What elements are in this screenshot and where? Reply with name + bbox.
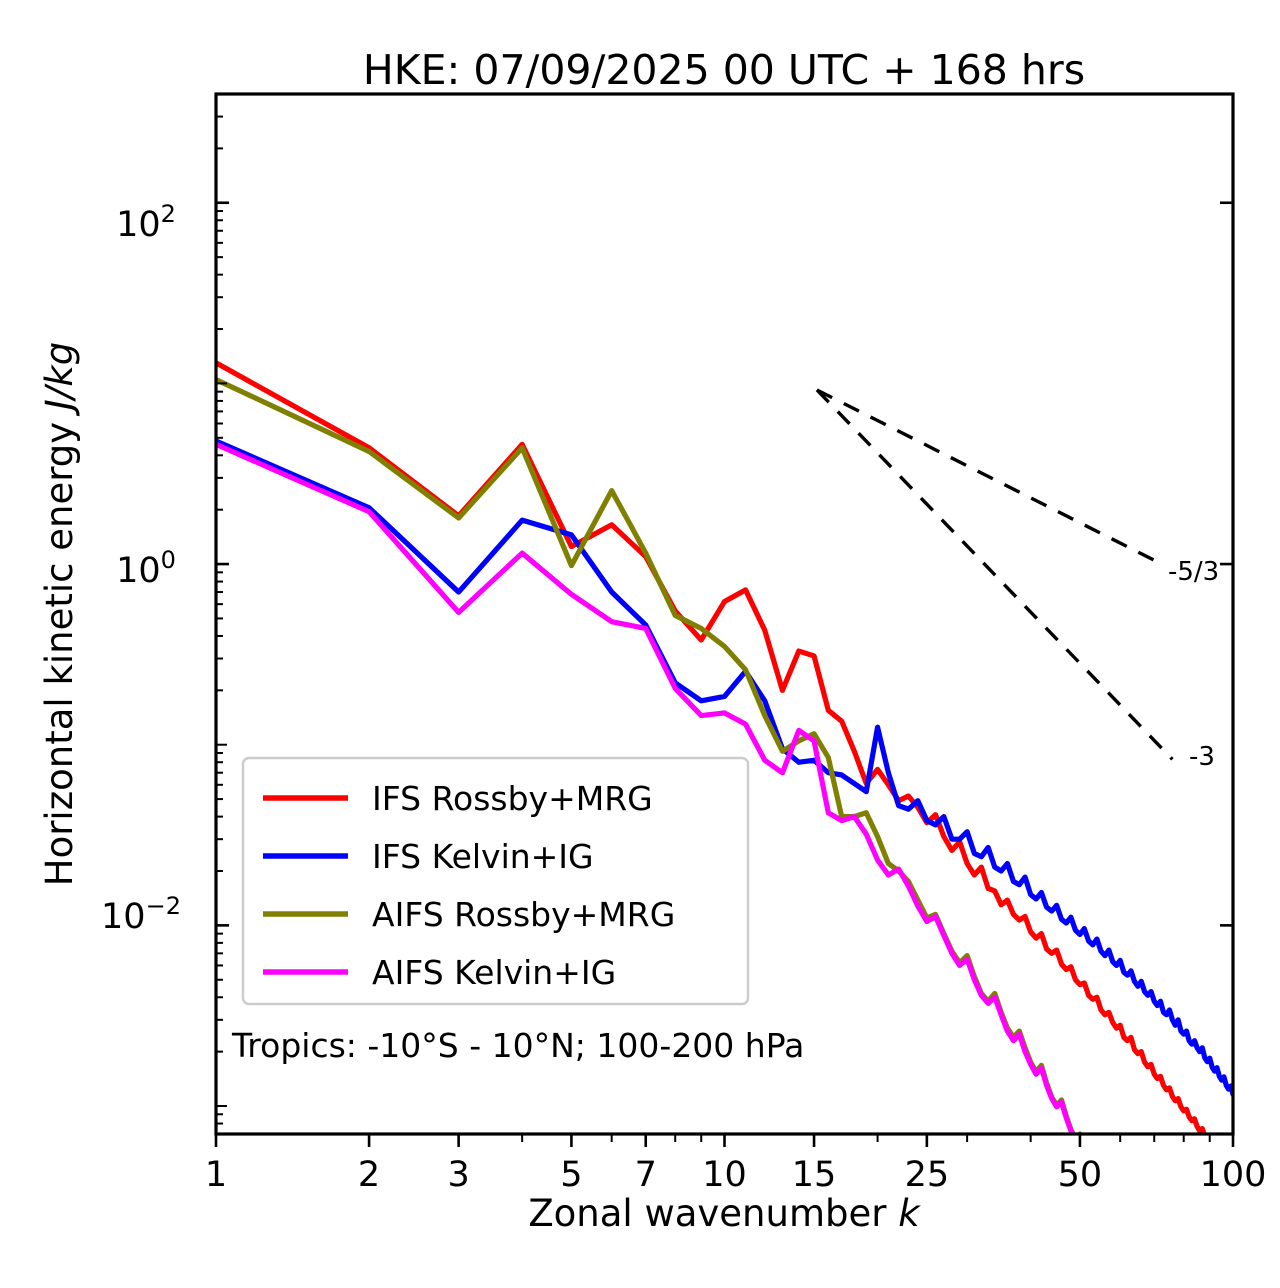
slope-label-three: -3	[1189, 742, 1215, 772]
figure-root: { "title": "HKE: 07/09/2025 00 UTC + 168…	[0, 0, 1280, 1288]
x-tick-label-2: 2	[358, 1155, 380, 1195]
x-tick-label-7: 7	[635, 1155, 657, 1195]
x-axis-label: Zonal wavenumber k	[528, 1192, 921, 1235]
y-tick-label-1e0: 100	[116, 546, 176, 591]
x-tick-label-25: 25	[905, 1155, 950, 1195]
chart-title: HKE: 07/09/2025 00 UTC + 168 hrs	[363, 46, 1085, 94]
slope-label-five-thirds: -5/3	[1168, 557, 1219, 587]
region-annotation: Tropics: -10°S - 10°N; 100-200 hPa	[231, 1026, 804, 1065]
y-tick-label-1e2: 102	[116, 200, 176, 245]
x-tick-label-5: 5	[560, 1155, 582, 1195]
legend-label-2: AIFS Rossby+MRG	[372, 895, 675, 934]
legend-label-0: IFS Rossby+MRG	[372, 779, 653, 818]
y-tick-label-group: 102 100 10−2	[101, 200, 181, 937]
x-tick-label-10: 10	[702, 1155, 747, 1195]
x-tick-label-100: 100	[1200, 1155, 1267, 1195]
hke-spectrum-chart: HKE: 07/09/2025 00 UTC + 168 hrs -5/3 -3…	[0, 0, 1280, 1288]
axis-tick-labels: 1235710152550100	[205, 1155, 1267, 1195]
x-tick-label-3: 3	[447, 1155, 469, 1195]
y-axis-label: Horizontal kinetic energy J/kg	[38, 342, 81, 886]
x-tick-label-1: 1	[205, 1155, 227, 1195]
x-tick-label-15: 15	[792, 1155, 837, 1195]
legend-label-1: IFS Kelvin+IG	[372, 837, 594, 876]
y-tick-label-1em2: 10−2	[101, 892, 181, 937]
legend-label-3: AIFS Kelvin+IG	[372, 953, 616, 992]
chart-legend: IFS Rossby+MRGIFS Kelvin+IGAIFS Rossby+M…	[243, 758, 748, 1004]
x-tick-label-50: 50	[1058, 1155, 1103, 1195]
